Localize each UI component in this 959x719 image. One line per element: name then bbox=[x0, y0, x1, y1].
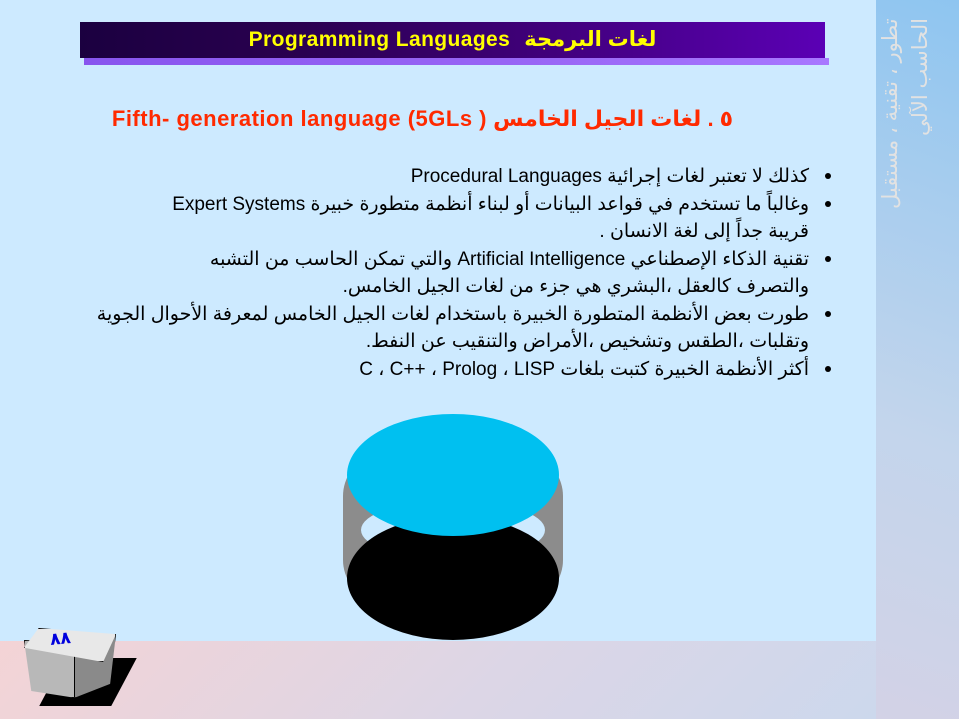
slide-title-bar: لغات البرمجةProgramming Languages bbox=[80, 22, 825, 58]
sidebar-text-line-1: تطور ، تقنية ، مستقبل bbox=[876, 18, 906, 418]
hourglass-top-disc bbox=[347, 414, 559, 536]
page-number: ٨٨ bbox=[49, 628, 72, 650]
slide-title-latin: Programming Languages bbox=[249, 28, 511, 51]
subtitle-latin: Fifth- generation language (5GLs ) bbox=[112, 106, 487, 131]
bullet-dot-icon bbox=[825, 256, 831, 262]
list-item: أكثر الأنظمة الخبيرة كتبت بلغات C ، C++ … bbox=[151, 356, 831, 383]
list-item: وغالباً ما تستخدم في قواعد البيانات أو ل… bbox=[151, 191, 831, 245]
bullet-dot-icon bbox=[825, 311, 831, 317]
bullet-text: كذلك لا تعتبر لغات إجرائية Procedural La… bbox=[151, 163, 809, 190]
subtitle-arabic: لغات الجيل الخامس bbox=[493, 106, 701, 131]
slide-subtitle: ٥ . لغات الجيل الخامس Fifth- generation … bbox=[0, 106, 845, 132]
sidebar-vertical-text: تطور ، تقنية ، مستقبل الحاسب الآلي bbox=[876, 18, 959, 418]
subtitle-number: ٥ . bbox=[707, 106, 733, 131]
list-item: كذلك لا تعتبر لغات إجرائية Procedural La… bbox=[151, 163, 831, 190]
bullet-dot-icon bbox=[825, 201, 831, 207]
sidebar-text-line-2: الحاسب الآلي bbox=[906, 18, 936, 418]
list-item: طورت بعض الأنظمة المتطورة الخبيرة باستخد… bbox=[151, 301, 831, 355]
page-number-key: ٨٨ bbox=[24, 628, 134, 712]
slide-title-arabic: لغات البرمجة bbox=[524, 28, 656, 51]
title-bar-underline bbox=[84, 58, 829, 65]
hourglass-graphic bbox=[343, 414, 563, 640]
bullet-list: كذلك لا تعتبر لغات إجرائية Procedural La… bbox=[151, 163, 831, 384]
presentation-slide: تطور ، تقنية ، مستقبل الحاسب الآلي لغات … bbox=[0, 0, 959, 719]
list-item: تقنية الذكاء الإصطناعي Artificial Intell… bbox=[151, 246, 831, 300]
bullet-text-continuation: وتقلبات ،الطقس وتشخيص ،الأمراض والتنقيب … bbox=[151, 328, 809, 355]
bullet-dot-icon bbox=[825, 366, 831, 372]
bullet-text: وغالباً ما تستخدم في قواعد البيانات أو ل… bbox=[151, 191, 809, 218]
bullet-text: تقنية الذكاء الإصطناعي Artificial Intell… bbox=[151, 246, 809, 273]
bullet-text-continuation: قريبة جداً إلى لغة الانسان . bbox=[151, 218, 809, 245]
bullet-dot-icon bbox=[825, 173, 831, 179]
bullet-text: أكثر الأنظمة الخبيرة كتبت بلغات C ، C++ … bbox=[151, 356, 809, 383]
slide-title: لغات البرمجةProgramming Languages bbox=[80, 22, 825, 58]
bullet-text: طورت بعض الأنظمة المتطورة الخبيرة باستخد… bbox=[151, 301, 809, 328]
bullet-text-continuation: والتصرف كالعقل ،البشري هي جزء من لغات ال… bbox=[151, 273, 809, 300]
slide-sidebar: تطور ، تقنية ، مستقبل الحاسب الآلي bbox=[876, 0, 959, 719]
